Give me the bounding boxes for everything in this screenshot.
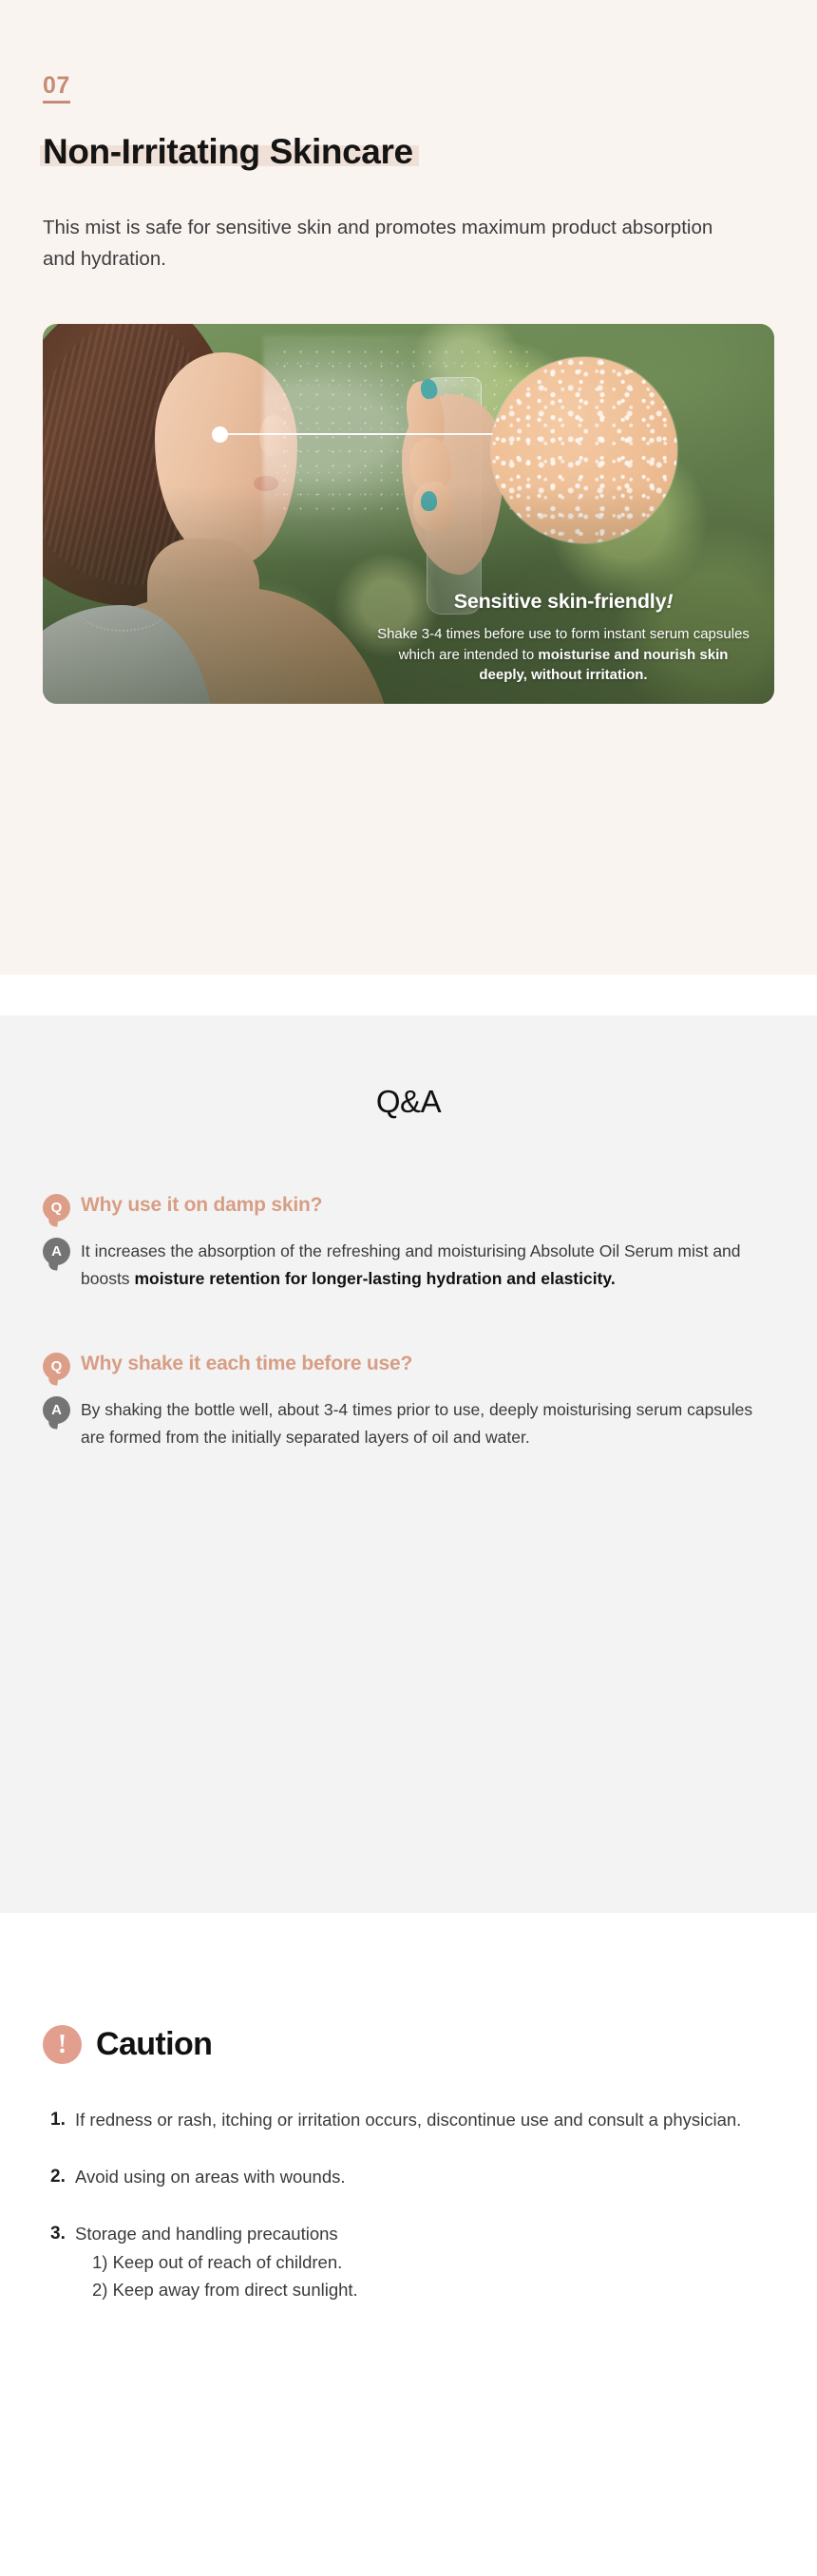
qa-block: Q Why use it on damp skin? A It increase… bbox=[43, 1192, 774, 1292]
question-badge-icon: Q bbox=[43, 1194, 70, 1222]
card-overlay-heading-mark: ! bbox=[666, 590, 673, 613]
page-title: Non-Irritating Skincare bbox=[43, 132, 413, 171]
answer-badge-icon: A bbox=[43, 1238, 70, 1265]
list-item: 3. Storage and handling precautions 1) K… bbox=[50, 2220, 774, 2304]
list-item-number: 1. bbox=[50, 2106, 75, 2134]
list-item-text: If redness or rash, itching or irritatio… bbox=[75, 2106, 741, 2134]
question-badge-icon: Q bbox=[43, 1353, 70, 1380]
list-item-number: 3. bbox=[50, 2220, 75, 2304]
list-item-body: Storage and handling precautions 1) Keep… bbox=[75, 2220, 358, 2304]
caution-title: Caution bbox=[96, 2026, 212, 2063]
caution-sub-list: 1) Keep out of reach of children. 2) Kee… bbox=[75, 2248, 358, 2303]
card-overlay-body: Shake 3-4 times before use to form insta… bbox=[373, 624, 753, 685]
card-overlay-copy: Sensitive skin-friendly! Shake 3-4 times… bbox=[373, 590, 753, 685]
list-item-text: Avoid using on areas with wounds. bbox=[75, 2163, 346, 2191]
feature-photo-card: Sensitive skin-friendly! Shake 3-4 times… bbox=[43, 324, 774, 704]
qa-heading: Q&A bbox=[43, 1084, 774, 1120]
qa-question-text: Why shake it each time before use? bbox=[81, 1351, 412, 1375]
list-item: 2. Avoid using on areas with wounds. bbox=[50, 2163, 774, 2191]
sub-list-item: 1) Keep out of reach of children. bbox=[92, 2248, 358, 2276]
qa-question-row: Q Why shake it each time before use? bbox=[43, 1351, 774, 1380]
card-overlay-heading-text: Sensitive skin-friendly bbox=[454, 590, 667, 613]
feature-description: This mist is safe for sensitive skin and… bbox=[43, 213, 727, 275]
qa-question-row: Q Why use it on damp skin? bbox=[43, 1192, 774, 1222]
list-item-text: Storage and handling precautions bbox=[75, 2224, 338, 2244]
sub-list-item: 2) Keep away from direct sunlight. bbox=[92, 2276, 358, 2303]
qa-answer-plain: By shaking the bottle well, about 3-4 ti… bbox=[81, 1400, 752, 1447]
page-title-wrapper: Non-Irritating Skincare bbox=[43, 132, 413, 171]
qa-answer-bold: moisture retention for longer-lasting hy… bbox=[134, 1269, 615, 1288]
step-number: 07 bbox=[43, 74, 70, 104]
caution-list: 1. If redness or rash, itching or irrita… bbox=[43, 2106, 774, 2304]
qa-block: Q Why shake it each time before use? A B… bbox=[43, 1351, 774, 1450]
qa-answer-row: A By shaking the bottle well, about 3-4 … bbox=[43, 1393, 774, 1450]
qa-answer-row: A It increases the absorption of the ref… bbox=[43, 1235, 774, 1292]
caution-section: ! Caution 1. If redness or rash, itching… bbox=[0, 1913, 817, 2304]
list-item-number: 2. bbox=[50, 2163, 75, 2191]
step-number-wrapper: 07 bbox=[43, 74, 774, 104]
callout-connector-line bbox=[227, 433, 512, 435]
exclamation-icon: ! bbox=[43, 2025, 82, 2064]
caution-header: ! Caution bbox=[43, 2025, 774, 2064]
list-item: 1. If redness or rash, itching or irrita… bbox=[50, 2106, 774, 2134]
qa-answer-text: It increases the absorption of the refre… bbox=[81, 1235, 763, 1292]
card-overlay-heading: Sensitive skin-friendly! bbox=[373, 590, 753, 614]
answer-badge-icon: A bbox=[43, 1396, 70, 1424]
qa-answer-text: By shaking the bottle well, about 3-4 ti… bbox=[81, 1393, 763, 1450]
qa-section: Q&A Q Why use it on damp skin? A It incr… bbox=[0, 1015, 817, 1913]
feature-section: 07 Non-Irritating Skincare This mist is … bbox=[0, 0, 817, 975]
qa-question-text: Why use it on damp skin? bbox=[81, 1192, 322, 1217]
